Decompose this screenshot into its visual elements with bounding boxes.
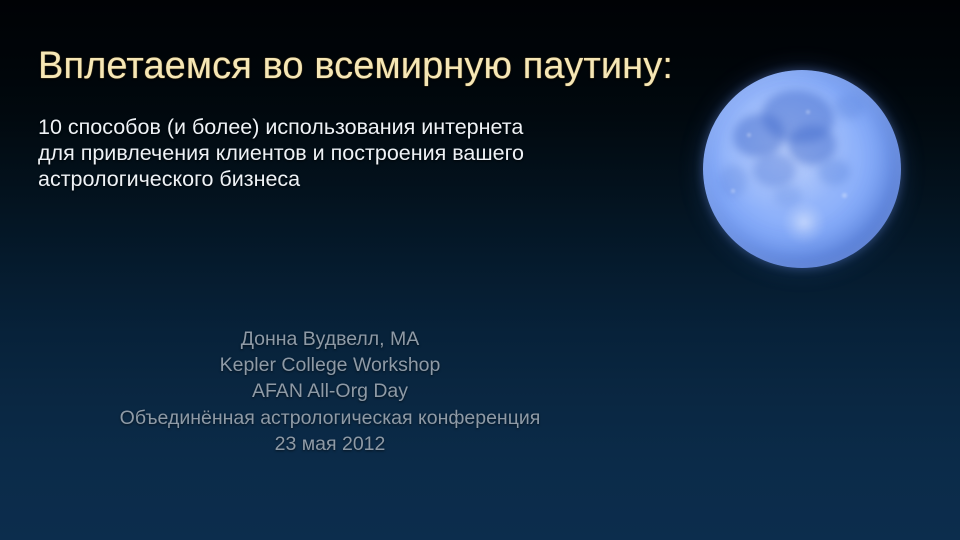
moon-mare <box>753 153 797 187</box>
moon-mare <box>834 94 866 120</box>
moon-mare <box>733 114 784 158</box>
moon-crater-speck <box>842 193 847 198</box>
credit-conference: Объединённая астрологическая конференция <box>40 405 620 431</box>
moon-crater-speck <box>747 133 751 137</box>
credit-date: 23 мая 2012 <box>40 431 620 457</box>
subtitle-line-1: 10 способов (и более) использования инте… <box>38 114 658 140</box>
credit-event-day: AFAN All-Org Day <box>40 378 620 404</box>
subtitle-line-3: астрологического бизнеса <box>38 166 658 192</box>
moon-disc <box>703 70 901 268</box>
presentation-slide: Вплетаемся во всемирную паутину: 10 спос… <box>0 0 960 540</box>
credit-workshop: Kepler College Workshop <box>40 352 620 378</box>
moon-crater-speck <box>806 110 810 114</box>
moon-ray-crater <box>782 201 826 245</box>
slide-subtitle: 10 способов (и более) использования инте… <box>38 114 658 192</box>
credit-presenter: Донна Вудвелл, MA <box>40 326 620 352</box>
slide-title: Вплетаемся во всемирную паутину: <box>38 44 698 88</box>
slide-credits: Донна Вудвелл, MA Kepler College Worksho… <box>40 326 620 457</box>
moon-crater-speck <box>731 189 735 193</box>
subtitle-line-2: для привлечения клиентов и построения ва… <box>38 140 658 166</box>
moon-mare <box>818 159 850 185</box>
moon-image <box>703 70 901 268</box>
